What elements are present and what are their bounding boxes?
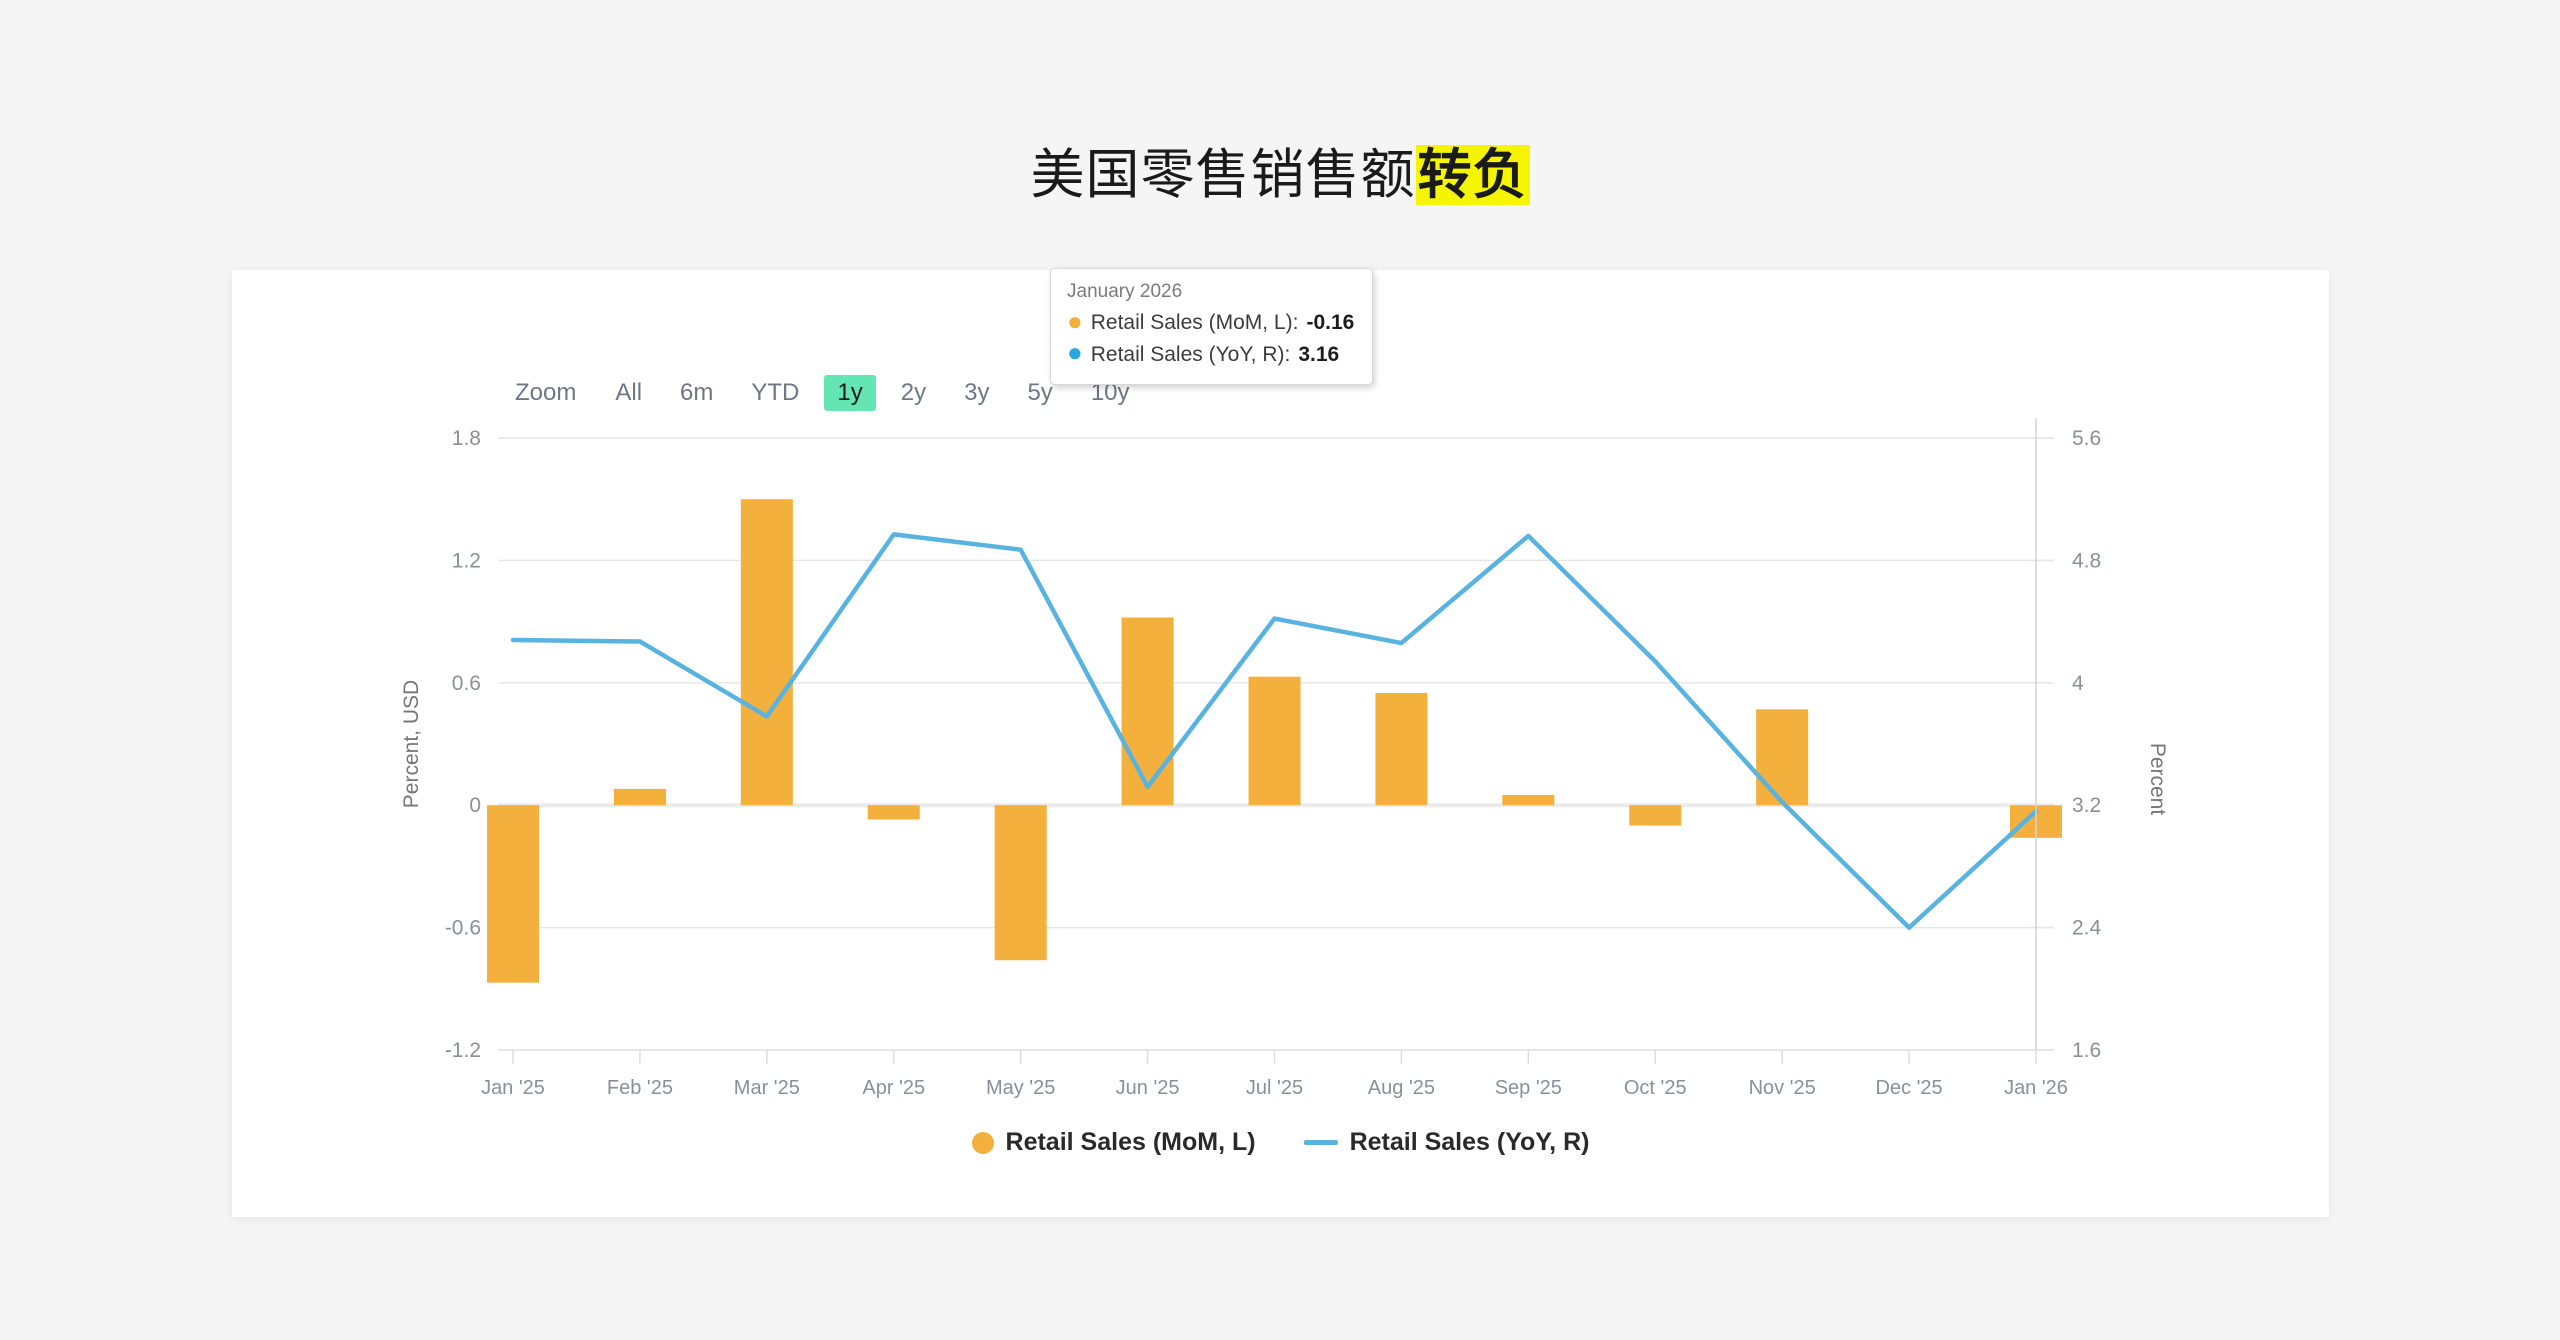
y-axis-tick-label: 1.8 bbox=[452, 427, 481, 450]
chart-legend: Retail Sales (MoM, L) Retail Sales (YoY,… bbox=[232, 1128, 2329, 1157]
legend-label-mom: Retail Sales (MoM, L) bbox=[1006, 1128, 1256, 1157]
bar-8[interactable] bbox=[1375, 693, 1427, 805]
legend-marker-circle-icon bbox=[972, 1132, 994, 1154]
x-axis-tick-label: Nov '25 bbox=[1749, 1077, 1816, 1099]
tooltip-label-mom: Retail Sales (MoM, L): bbox=[1091, 307, 1299, 339]
chart-svg: 1.81.20.60-0.6-1.25.64.843.22.41.6Jan '2… bbox=[232, 270, 2329, 1217]
y-axis-tick-label: 0.6 bbox=[452, 672, 481, 695]
bar-6[interactable] bbox=[1122, 618, 1174, 806]
y-axis-tick-label: 1.2 bbox=[452, 549, 481, 572]
tooltip-row-yoy: ● Retail Sales (YoY, R): 3.16 bbox=[1067, 339, 1354, 371]
x-axis-tick-label: Mar '25 bbox=[734, 1077, 800, 1099]
y2-axis-tick-label: 4 bbox=[2072, 672, 2084, 695]
y2-axis-tick-label: 5.6 bbox=[2072, 427, 2101, 450]
x-axis-tick-label: Apr '25 bbox=[862, 1077, 925, 1099]
y2-axis-tick-label: 2.4 bbox=[2072, 917, 2102, 940]
bar-5[interactable] bbox=[995, 805, 1047, 960]
bar-11[interactable] bbox=[1756, 709, 1808, 805]
tooltip-value-yoy: 3.16 bbox=[1298, 339, 1339, 371]
y-axis-tick-label: 0 bbox=[469, 794, 481, 817]
tooltip-bullet-yoy: ● bbox=[1067, 339, 1083, 365]
x-axis-tick-label: Jun '25 bbox=[1116, 1077, 1180, 1099]
plot-area[interactable]: 1.81.20.60-0.6-1.25.64.843.22.41.6Jan '2… bbox=[232, 270, 2329, 1217]
bar-3[interactable] bbox=[741, 499, 793, 805]
tooltip-date: January 2026 bbox=[1067, 281, 1354, 303]
bar-1[interactable] bbox=[487, 805, 539, 982]
bar-7[interactable] bbox=[1249, 677, 1301, 806]
tooltip-row-mom: ● Retail Sales (MoM, L): -0.16 bbox=[1067, 307, 1354, 339]
x-axis-tick-label: Jan '25 bbox=[481, 1077, 545, 1099]
bar-9[interactable] bbox=[1502, 795, 1554, 805]
chart-tooltip: January 2026 ● Retail Sales (MoM, L): -0… bbox=[1050, 268, 1373, 385]
page-title: 美国零售销售额转负 bbox=[0, 130, 2560, 209]
legend-item-mom[interactable]: Retail Sales (MoM, L) bbox=[972, 1128, 1256, 1157]
bar-10[interactable] bbox=[1629, 805, 1681, 825]
legend-item-yoy[interactable]: Retail Sales (YoY, R) bbox=[1304, 1128, 1590, 1157]
tooltip-bullet-mom: ● bbox=[1067, 308, 1083, 334]
tooltip-label-yoy: Retail Sales (YoY, R): bbox=[1091, 339, 1291, 371]
x-axis-tick-label: Sep '25 bbox=[1495, 1077, 1562, 1099]
x-axis-tick-label: May '25 bbox=[986, 1077, 1055, 1099]
x-axis-tick-label: Jul '25 bbox=[1246, 1077, 1303, 1099]
legend-marker-line-icon bbox=[1304, 1140, 1338, 1145]
y-axis-tick-label: -0.6 bbox=[445, 917, 481, 940]
y2-axis-tick-label: 1.6 bbox=[2072, 1039, 2101, 1062]
x-axis-tick-label: Aug '25 bbox=[1368, 1077, 1435, 1099]
x-axis-tick-label: Jan '26 bbox=[2004, 1077, 2068, 1099]
bar-4[interactable] bbox=[868, 805, 920, 819]
page-title-plain: 美国零售销售额 bbox=[1031, 145, 1416, 205]
x-axis-tick-label: Dec '25 bbox=[1875, 1077, 1942, 1099]
legend-label-yoy: Retail Sales (YoY, R) bbox=[1350, 1128, 1590, 1157]
x-axis-tick-label: Feb '25 bbox=[607, 1077, 673, 1099]
bar-2[interactable] bbox=[614, 789, 666, 805]
y2-axis-tick-label: 3.2 bbox=[2072, 794, 2101, 817]
x-axis-tick-label: Oct '25 bbox=[1624, 1077, 1687, 1099]
y-axis-title: Percent, USD bbox=[400, 680, 423, 808]
y-axis-tick-label: -1.2 bbox=[445, 1039, 481, 1062]
y2-axis-tick-label: 4.8 bbox=[2072, 549, 2101, 572]
chart-card: Zoom All 6m YTD 1y 2y 3y 5y 10y 1.81.20.… bbox=[232, 270, 2329, 1217]
tooltip-value-mom: -0.16 bbox=[1306, 307, 1354, 339]
page-title-highlight: 转负 bbox=[1416, 145, 1530, 205]
y2-axis-title: Percent bbox=[2146, 743, 2169, 816]
